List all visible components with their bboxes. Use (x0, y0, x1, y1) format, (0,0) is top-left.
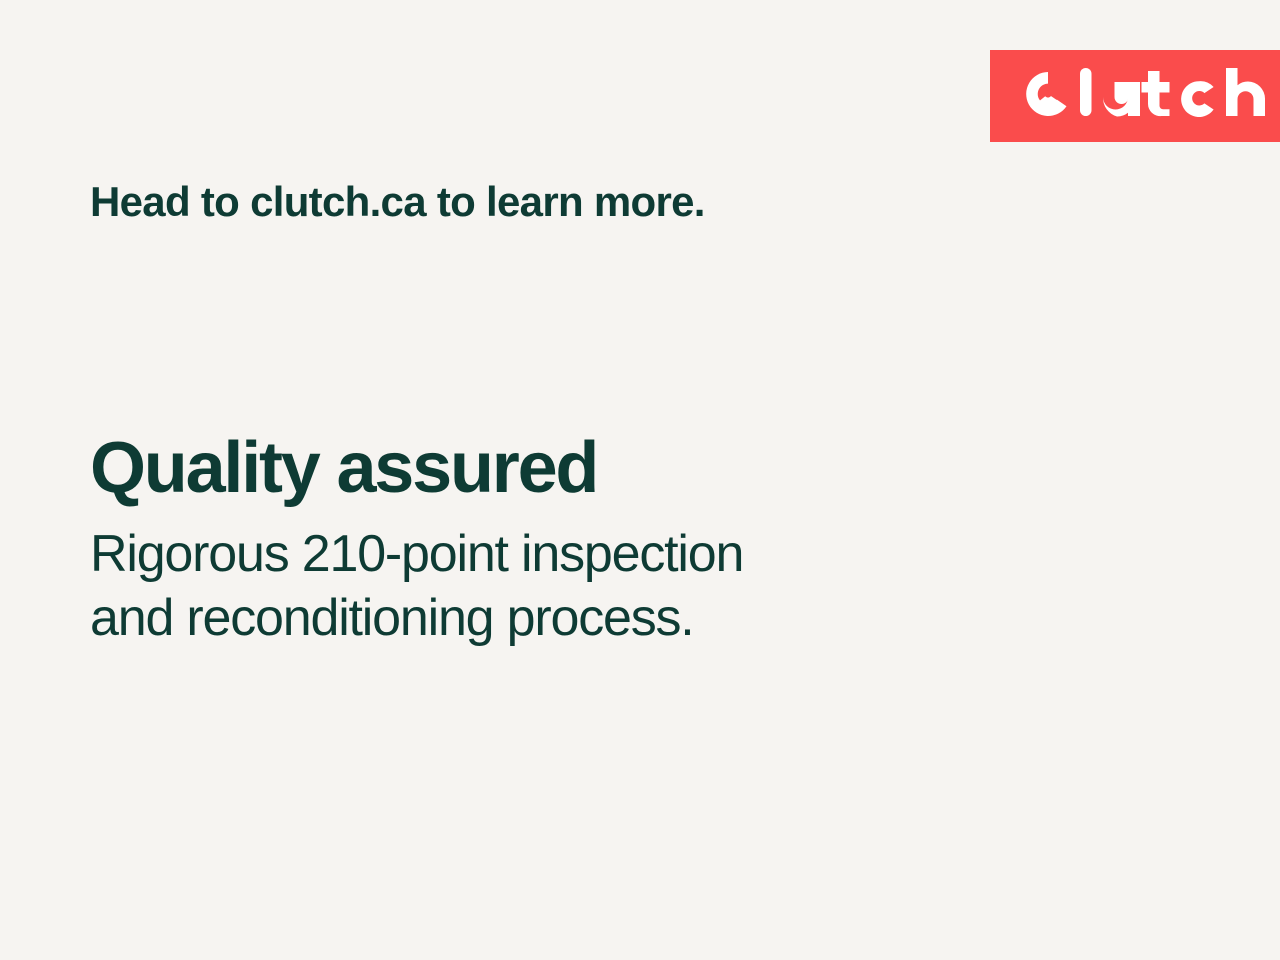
subheadline: Rigorous 210-point inspection and recond… (90, 504, 743, 651)
subheadline-line-1: Rigorous 210-point inspection (90, 522, 743, 586)
lead-line: Head to clutch.ca to learn more. (90, 181, 705, 223)
page-title: Quality assured (90, 432, 743, 504)
clutch-c-mark-icon (1022, 68, 1074, 125)
clutch-logo-badge[interactable] (990, 50, 1280, 142)
promo-slide: Head to clutch.ca to learn more. Quality… (0, 0, 1280, 960)
clutch-wordmark (1078, 66, 1274, 127)
headline-block: Quality assured Rigorous 210-point inspe… (90, 432, 743, 651)
subheadline-line-2: and reconditioning process. (90, 586, 743, 650)
